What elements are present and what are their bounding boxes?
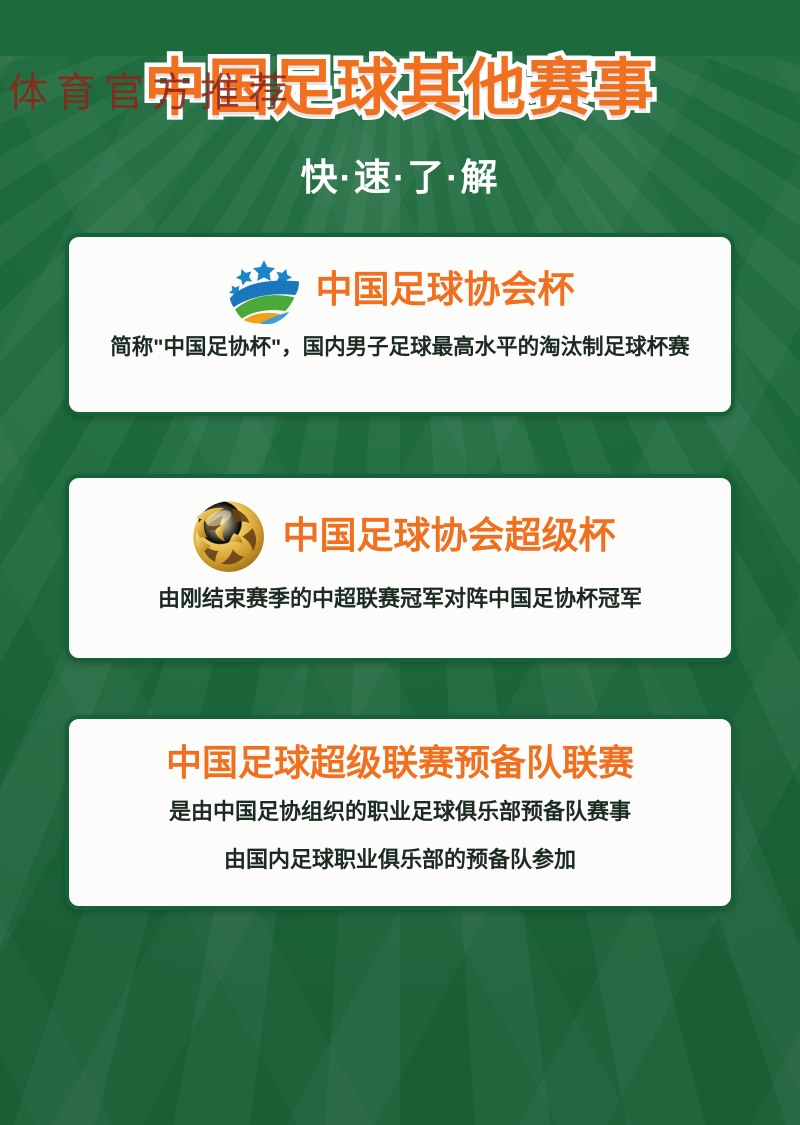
card-description-line: 由刚结束赛季的中超联赛冠军对阵中国足协杯冠军 <box>83 582 717 616</box>
card-header: 中国足球协会杯 <box>83 251 717 327</box>
cfa-cup-logo-icon <box>226 251 302 327</box>
card-title: 中国足球协会超级杯 <box>283 517 616 554</box>
card-title: 中国足球超级联赛预备队联赛 <box>166 745 634 781</box>
page-subtitle: 快·速·了·解 <box>0 147 800 201</box>
competition-card-list: 中国足球协会杯 简称"中国足协杯"，国内男子足球最高水平的淘汰制足球杯赛 <box>0 233 800 910</box>
card-description-line: 是由中国足协组织的职业足球俱乐部预备队赛事 <box>83 795 717 829</box>
competition-card-cfa-cup[interactable]: 中国足球协会杯 简称"中国足协杯"，国内男子足球最高水平的淘汰制足球杯赛 <box>65 233 735 416</box>
cfa-super-cup-flame-logo-icon <box>185 493 269 577</box>
card-header: 中国足球协会超级杯 <box>83 492 717 578</box>
competition-card-csl-reserve-league[interactable]: 中国足球超级联赛预备队联赛 是由中国足协组织的职业足球俱乐部预备队赛事 由国内足… <box>65 715 735 910</box>
watermark-text: 体育官方推荐 <box>8 60 296 118</box>
card-description-line: 由国内足球职业俱乐部的预备队参加 <box>83 843 717 877</box>
card-description-line: 简称"中国足协杯"，国内男子足球最高水平的淘汰制足球杯赛 <box>83 331 717 364</box>
card-header: 中国足球超级联赛预备队联赛 <box>83 745 717 781</box>
competition-card-cfa-super-cup[interactable]: 中国足球协会超级杯 由刚结束赛季的中超联赛冠军对阵中国足协杯冠军 <box>65 474 735 662</box>
card-title: 中国足球协会杯 <box>316 271 575 308</box>
